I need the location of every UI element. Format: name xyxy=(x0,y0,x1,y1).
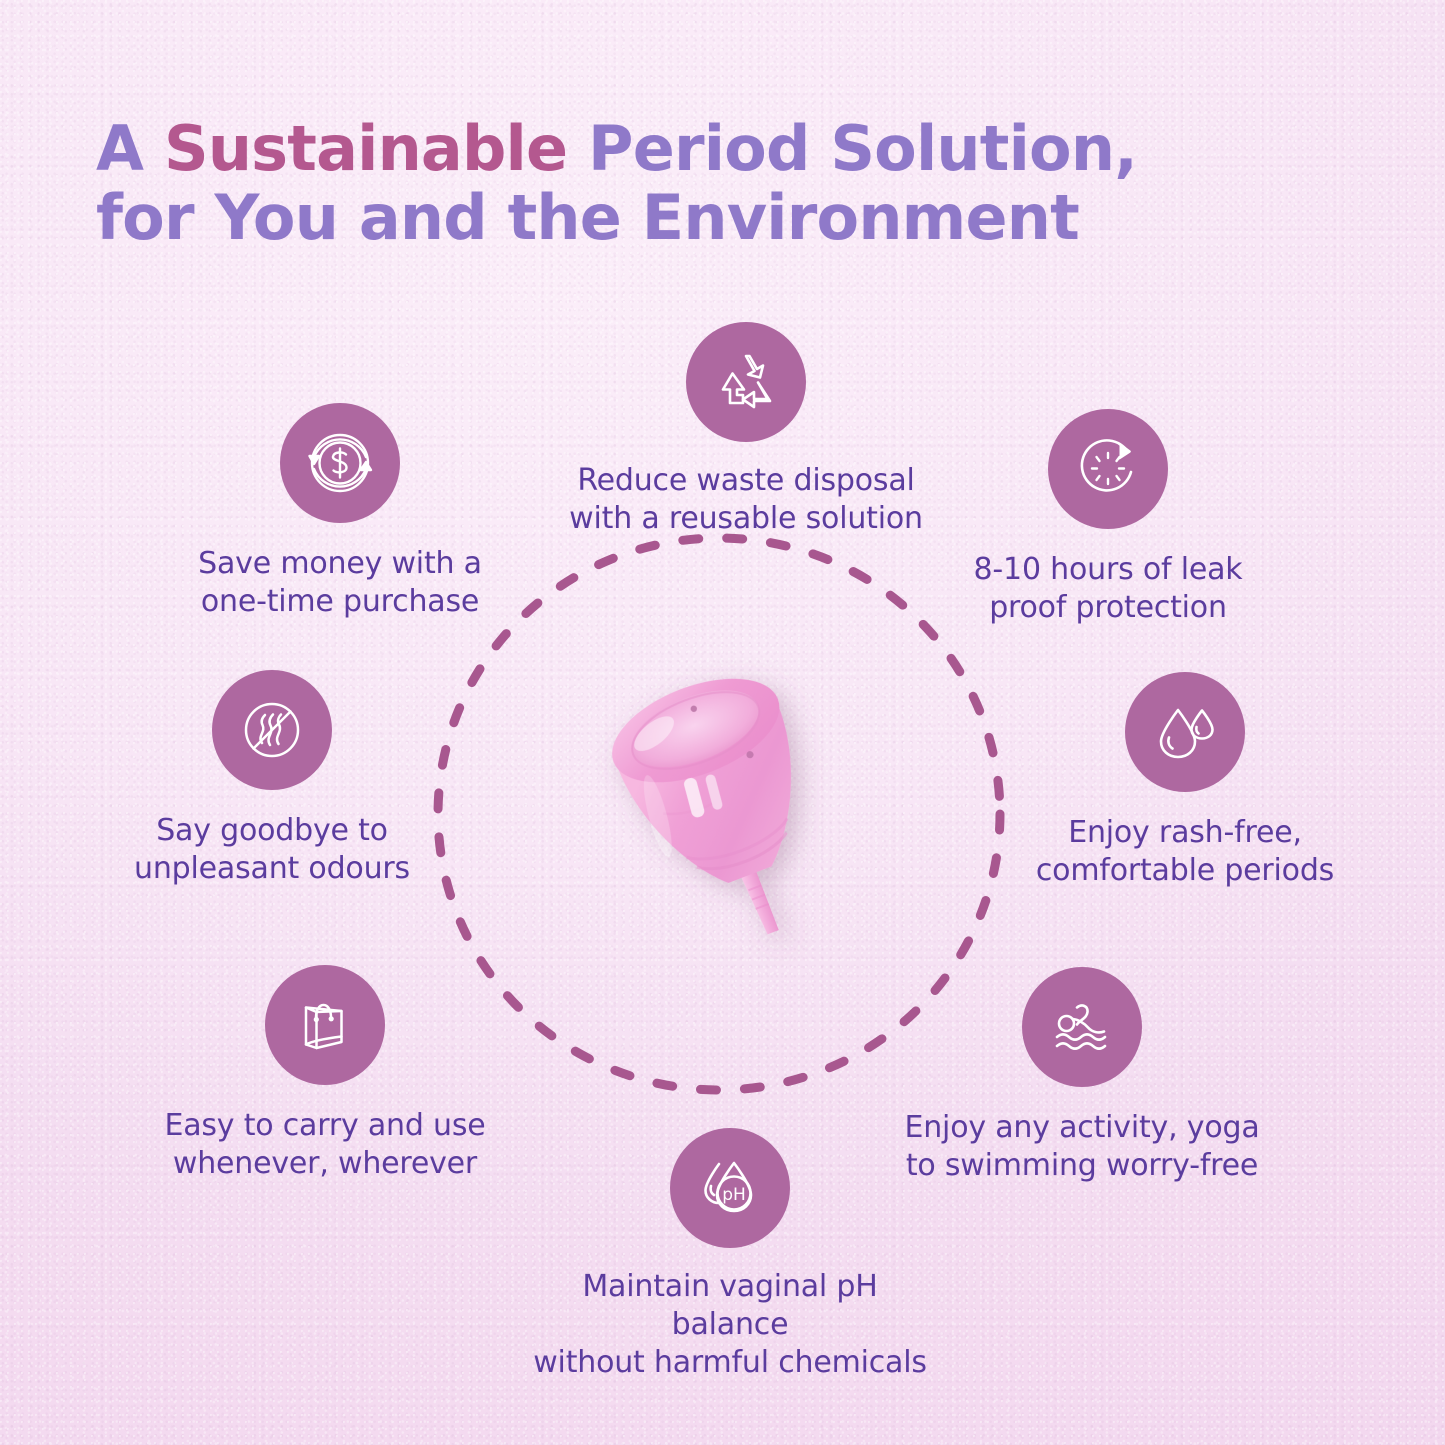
feature-easy-carry[interactable]: Easy to carry and use whenever, wherever xyxy=(145,965,505,1183)
feature-caption: Enjoy rash-free, comfortable periods xyxy=(1036,814,1334,890)
swimmer-icon xyxy=(1044,989,1120,1065)
badge-money xyxy=(280,403,400,523)
feature-save-money[interactable]: Save money with a one-time purchase xyxy=(160,403,520,621)
clock-arrow-icon xyxy=(1071,432,1145,506)
menstrual-cup-image xyxy=(575,640,875,970)
no-odour-icon xyxy=(235,693,309,767)
svg-text:pH: pH xyxy=(722,1185,746,1205)
feature-reduce-waste[interactable]: Reduce waste disposal with a reusable so… xyxy=(566,322,926,538)
feature-no-odour[interactable]: Say goodbye to unpleasant odours xyxy=(92,670,452,888)
infographic-canvas: A Sustainable Period Solution, for You a… xyxy=(0,0,1445,1445)
feature-leak-protection[interactable]: 8-10 hours of leak proof protection xyxy=(928,409,1288,627)
badge-clock xyxy=(1048,409,1168,529)
feature-caption: Say goodbye to unpleasant odours xyxy=(134,812,410,888)
shopping-bag-icon xyxy=(290,990,360,1060)
feature-ph-balance[interactable]: pH Maintain vaginal pH balance without h… xyxy=(530,1128,930,1381)
title-suffix: Period Solution, xyxy=(567,112,1137,185)
feature-any-activity[interactable]: Enjoy any activity, yoga to swimming wor… xyxy=(902,967,1262,1185)
recycle-icon xyxy=(710,346,782,418)
badge-droplets xyxy=(1125,672,1245,792)
feature-caption: 8-10 hours of leak proof protection xyxy=(974,551,1243,627)
title-prefix: A xyxy=(96,112,164,185)
badge-ph: pH xyxy=(670,1128,790,1248)
ph-label: pH xyxy=(722,1185,746,1205)
feature-caption: Enjoy any activity, yoga to swimming wor… xyxy=(904,1109,1259,1185)
title-line-1: A Sustainable Period Solution, xyxy=(96,112,1137,185)
badge-bag xyxy=(265,965,385,1085)
badge-swimmer xyxy=(1022,967,1142,1087)
feature-caption: Easy to carry and use whenever, wherever xyxy=(164,1107,485,1183)
feature-caption: Maintain vaginal pH balance without harm… xyxy=(530,1268,930,1381)
badge-no-odour xyxy=(212,670,332,790)
feature-caption: Reduce waste disposal with a reusable so… xyxy=(569,462,923,538)
ph-droplet-icon: pH xyxy=(694,1152,766,1224)
money-savings-icon xyxy=(302,425,378,501)
feature-rash-free[interactable]: Enjoy rash-free, comfortable periods xyxy=(1005,672,1365,890)
title-accent-word: Sustainable xyxy=(164,112,567,185)
water-droplets-icon xyxy=(1149,696,1221,768)
title-line-2: for You and the Environment xyxy=(96,183,1276,252)
page-title: A Sustainable Period Solution, for You a… xyxy=(96,114,1276,253)
feature-caption: Save money with a one-time purchase xyxy=(198,545,482,621)
badge-recycle xyxy=(686,322,806,442)
